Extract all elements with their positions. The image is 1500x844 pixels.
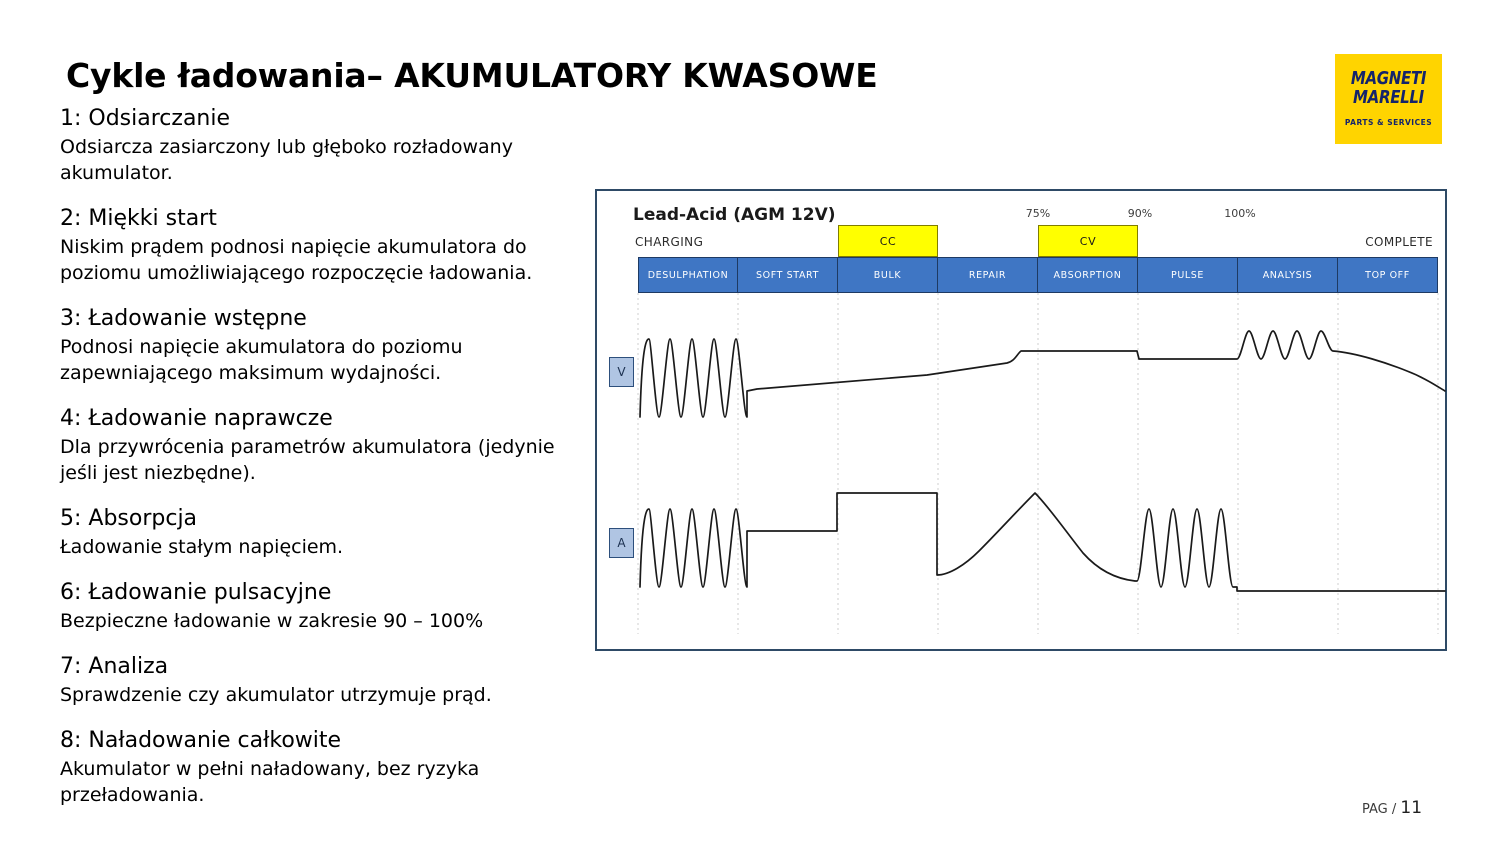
gridlines xyxy=(638,293,1438,634)
step-description: Niskim prądem podnosi napięcie akumulato… xyxy=(60,234,590,286)
list-item: 2: Miękki start Niskim prądem podnosi na… xyxy=(60,204,590,286)
step-heading: 1: Odsiarczanie xyxy=(60,104,590,134)
footer-label: PAG / xyxy=(1362,802,1396,817)
page-number: 11 xyxy=(1400,798,1422,818)
page-footer: PAG / 11 xyxy=(1362,798,1422,818)
step-heading: 2: Miękki start xyxy=(60,204,590,234)
list-item: 4: Ładowanie naprawcze Dla przywrócenia … xyxy=(60,404,590,486)
step-description: Dla przywrócenia parametrów akumulatora … xyxy=(60,434,590,486)
page-title: Cykle ładowania– AKUMULATORY KWASOWE xyxy=(66,56,878,95)
step-description: Bezpieczne ładowanie w zakresie 90 – 100… xyxy=(60,608,590,634)
logo-wordmark-line2: MARELLI xyxy=(1353,89,1424,107)
step-description: Podnosi napięcie akumulatora do poziomu … xyxy=(60,334,590,386)
list-item: 3: Ładowanie wstępne Podnosi napięcie ak… xyxy=(60,304,590,386)
step-heading: 3: Ładowanie wstępne xyxy=(60,304,590,334)
current-trace xyxy=(640,493,1445,591)
logo-tagline: PARTS & SERVICES xyxy=(1345,118,1432,127)
step-heading: 8: Naładowanie całkowite xyxy=(60,726,590,756)
magneti-marelli-logo: MAGNETI MARELLI PARTS & SERVICES xyxy=(1335,54,1442,144)
voltage-trace xyxy=(640,331,1445,417)
step-description: Sprawdzenie czy akumulator utrzymuje prą… xyxy=(60,682,590,708)
list-item: 8: Naładowanie całkowite Akumulator w pe… xyxy=(60,726,590,808)
step-description: Akumulator w pełni naładowany, bez ryzyk… xyxy=(60,756,590,808)
charging-steps-list: 1: Odsiarczanie Odsiarcza zasiarczony lu… xyxy=(60,104,590,826)
step-heading: 4: Ładowanie naprawcze xyxy=(60,404,590,434)
waveform-plot xyxy=(597,191,1449,653)
step-heading: 7: Analiza xyxy=(60,652,590,682)
step-heading: 5: Absorpcja xyxy=(60,504,590,534)
step-description: Odsiarcza zasiarczony lub głęboko rozład… xyxy=(60,134,590,186)
list-item: 5: Absorpcja Ładowanie stałym napięciem. xyxy=(60,504,590,560)
list-item: 7: Analiza Sprawdzenie czy akumulator ut… xyxy=(60,652,590,708)
step-heading: 6: Ładowanie pulsacyjne xyxy=(60,578,590,608)
logo-wordmark-line1: MAGNETI xyxy=(1351,70,1426,88)
list-item: 6: Ładowanie pulsacyjne Bezpieczne ładow… xyxy=(60,578,590,634)
charging-cycle-chart: Lead-Acid (AGM 12V) 75% 90% 100% CHARGIN… xyxy=(595,189,1447,651)
step-description: Ładowanie stałym napięciem. xyxy=(60,534,590,560)
list-item: 1: Odsiarczanie Odsiarcza zasiarczony lu… xyxy=(60,104,590,186)
